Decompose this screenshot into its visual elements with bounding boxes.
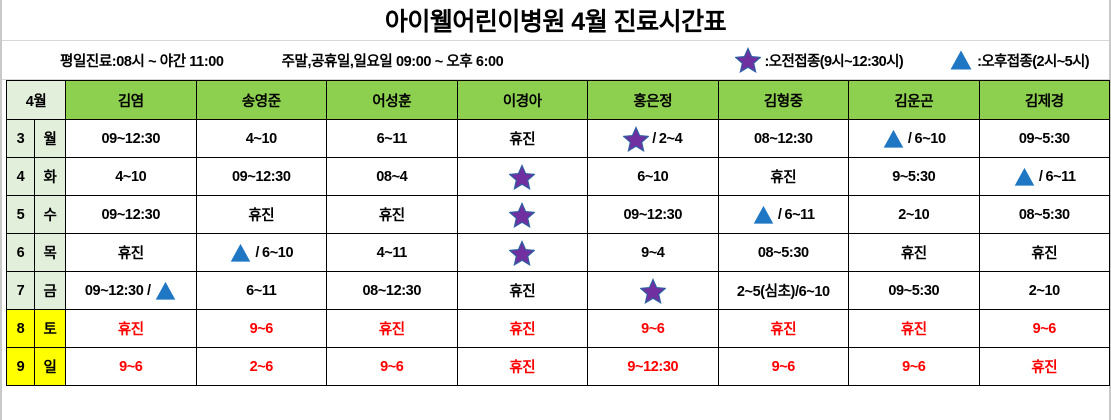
schedule-cell: /6~10 — [849, 120, 980, 158]
row-day-number: 3 — [7, 120, 35, 158]
schedule-cell-text: 9~6 — [380, 359, 403, 375]
schedule-cell-content: 08~5:30 — [980, 196, 1110, 233]
schedule-cell: /6~11 — [718, 196, 849, 234]
schedule-cell-text: 휴진 — [1031, 356, 1057, 377]
schedule-cell-content: 4~10 — [197, 120, 327, 157]
schedule-cell-text: 6~11 — [784, 207, 814, 223]
header-doctor-3: 이경아 — [457, 81, 588, 120]
schedule-cell-content: /6~11 — [719, 196, 849, 233]
schedule-cell: /6~11 — [979, 158, 1110, 196]
schedule-cell-content: 2~10 — [849, 196, 979, 233]
schedule-cell-text: 9~6 — [1033, 321, 1056, 337]
schedule-cell — [457, 196, 588, 234]
triangle-icon — [154, 279, 177, 302]
schedule-cell-content: 휴진 — [327, 310, 457, 347]
schedule-cell-text: 9~4 — [641, 245, 664, 261]
schedule-cell-content: 2~10 — [980, 272, 1110, 309]
schedule-cell-text: 9~6 — [772, 359, 795, 375]
schedule-cell: 09~12:30 — [588, 196, 719, 234]
schedule-cell-text: 08~5:30 — [758, 245, 809, 261]
schedule-table-wrap: 4월 김염 송영준 어성훈 이경아 홍은정 김형중 김운곤 김제경 3월09~1… — [2, 80, 1109, 386]
schedule-cell: /2~4 — [588, 120, 719, 158]
page-title: 아이웰어린이병원 4월 진료시간표 — [385, 2, 726, 38]
schedule-cell: 9~4 — [588, 234, 719, 272]
schedule-cell-content: /2~4 — [588, 120, 718, 157]
schedule-cell: 09~12:30 — [196, 158, 327, 196]
schedule-cell-text: 09~12:30 — [102, 131, 160, 147]
schedule-cell — [457, 234, 588, 272]
schedule-cell-content: 4~11 — [327, 234, 457, 271]
schedule-cell-content: 4~10 — [66, 158, 196, 195]
star-icon — [509, 240, 535, 266]
schedule-cell-text: 2~5(심초)/6~10 — [737, 280, 830, 301]
schedule-cell-content: 9~6 — [849, 348, 979, 385]
row-day-of-week: 수 — [35, 196, 66, 234]
schedule-cell-text: 휴진 — [770, 318, 796, 339]
schedule-cell-text: 6~10 — [915, 131, 946, 147]
schedule-cell-text: 6~10 — [637, 169, 668, 185]
schedule-cell: 9~6 — [66, 348, 197, 386]
schedule-cell-text: 08~5:30 — [1019, 207, 1070, 223]
header-doctor-2: 어성훈 — [327, 81, 458, 120]
schedule-cell-content: 08~5:30 — [719, 234, 849, 271]
schedule-cell: 09~12:30 / — [66, 272, 197, 310]
schedule-cell-content: 9~6 — [719, 348, 849, 385]
cell-separator: / — [255, 245, 259, 261]
table-row: 7금09~12:30 /6~1108~12:30휴진2~5(심초)/6~1009… — [7, 272, 1110, 310]
schedule-cell: 4~10 — [196, 120, 327, 158]
schedule-cell-text: 4~10 — [115, 169, 146, 185]
schedule-cell-content: 08~12:30 — [327, 272, 457, 309]
schedule-cell: 2~10 — [979, 272, 1110, 310]
row-day-of-week: 토 — [35, 310, 66, 348]
triangle-icon — [882, 127, 905, 150]
schedule-cell: 9~6 — [849, 348, 980, 386]
schedule-cell-content: 휴진 — [458, 272, 588, 309]
triangle-icon — [1013, 165, 1036, 188]
schedule-cell-content: 휴진 — [849, 234, 979, 271]
schedule-cell: 2~6 — [196, 348, 327, 386]
schedule-cell-text: 2~10 — [1029, 283, 1060, 299]
schedule-cell: 휴진 — [718, 158, 849, 196]
schedule-cell-content: 휴진 — [197, 196, 327, 233]
schedule-cell: 9~12:30 — [588, 348, 719, 386]
schedule-cell: 08~4 — [327, 158, 458, 196]
legend-label-afternoon: :오후접종(2시~5시) — [977, 50, 1089, 71]
schedule-cell-content: 9~4 — [588, 234, 718, 271]
schedule-cell-content: 08~4 — [327, 158, 457, 195]
schedule-cell: 휴진 — [66, 234, 197, 272]
schedule-cell-content: 09~5:30 — [849, 272, 979, 309]
schedule-cell-content: 09~12:30 — [66, 120, 196, 157]
schedule-cell: 휴진 — [849, 234, 980, 272]
header-doctor-4: 홍은정 — [588, 81, 719, 120]
schedule-cell-text: 휴진 — [770, 166, 796, 187]
schedule-cell: 9~6 — [588, 310, 719, 348]
schedule-cell: 9~6 — [327, 348, 458, 386]
cell-separator: / — [1039, 169, 1043, 185]
schedule-cell-content: /6~10 — [849, 120, 979, 157]
schedule-cell-text: 휴진 — [118, 242, 144, 263]
legend-label-morning: :오전접종(9시~12:30시) — [765, 50, 904, 71]
schedule-cell: 6~10 — [588, 158, 719, 196]
schedule-cell: 6~11 — [327, 120, 458, 158]
row-day-of-week: 금 — [35, 272, 66, 310]
schedule-cell: 4~11 — [327, 234, 458, 272]
schedule-cell-text: 09~12:30 — [232, 169, 290, 185]
schedule-cell: 6~11 — [196, 272, 327, 310]
row-day-number: 4 — [7, 158, 35, 196]
schedule-cell-text: 휴진 — [509, 280, 535, 301]
schedule-cell-content: 휴진 — [458, 310, 588, 347]
header-doctor-1: 송영준 — [196, 81, 327, 120]
schedule-cell-content: 휴진 — [719, 310, 849, 347]
row-day-of-week: 화 — [35, 158, 66, 196]
row-day-number: 9 — [7, 348, 35, 386]
schedule-cell-content: 휴진 — [66, 310, 196, 347]
table-row: 5수09~12:30휴진휴진09~12:30/6~112~1008~5:30 — [7, 196, 1110, 234]
cell-separator: / — [652, 131, 656, 147]
schedule-cell-content — [458, 196, 588, 233]
schedule-cell-text: 휴진 — [379, 204, 405, 225]
schedule-cell-content — [588, 272, 718, 309]
schedule-cell-text: 9~6 — [250, 321, 273, 337]
header-doctor-0: 김염 — [66, 81, 197, 120]
schedule-cell-text: 4~11 — [377, 245, 407, 261]
schedule-cell-text: 09~12:30 — [102, 207, 160, 223]
schedule-cell-content: 휴진 — [458, 348, 588, 385]
schedule-cell: 휴진 — [66, 310, 197, 348]
weekday-hours-text: 평일진료:08시 ~ 야간 11:00 — [60, 50, 224, 71]
schedule-cell — [588, 272, 719, 310]
schedule-cell-content: 6~10 — [588, 158, 718, 195]
schedule-cell-content: 9~6 — [588, 310, 718, 347]
schedule-cell-text: 6~11 — [377, 131, 407, 147]
triangle-icon — [949, 48, 973, 72]
schedule-cell-content: 6~11 — [197, 272, 327, 309]
schedule-cell-text: 휴진 — [509, 356, 535, 377]
schedule-cell: 08~12:30 — [327, 272, 458, 310]
schedule-cell-content — [458, 234, 588, 271]
schedule-cell: 9~6 — [718, 348, 849, 386]
schedule-cell-text: 휴진 — [901, 318, 927, 339]
cell-separator: / — [908, 131, 912, 147]
schedule-cell-content: 9~6 — [980, 310, 1110, 347]
schedule-cell-content: 휴진 — [849, 310, 979, 347]
row-day-number: 8 — [7, 310, 35, 348]
star-icon — [509, 164, 535, 190]
schedule-cell-content: 09~5:30 — [980, 120, 1110, 157]
schedule-cell: 휴진 — [457, 348, 588, 386]
schedule-cell-content: 9~6 — [327, 348, 457, 385]
table-row: 6목휴진/6~104~119~408~5:30휴진휴진 — [7, 234, 1110, 272]
schedule-cell-text: 09~5:30 — [888, 283, 939, 299]
schedule-cell-content: 2~6 — [197, 348, 327, 385]
schedule-cell — [457, 158, 588, 196]
schedule-cell: 휴진 — [457, 272, 588, 310]
schedule-cell-content: /6~11 — [980, 158, 1110, 195]
schedule-cell-text: 2~10 — [898, 207, 929, 223]
schedule-cell-text: 08~4 — [376, 169, 407, 185]
schedule-cell: 9~5:30 — [849, 158, 980, 196]
table-row: 9일9~62~69~6휴진9~12:309~69~6휴진 — [7, 348, 1110, 386]
title-band: 아이웰어린이병원 4월 진료시간표 — [2, 0, 1109, 41]
table-row: 8토휴진9~6휴진휴진9~6휴진휴진9~6 — [7, 310, 1110, 348]
schedule-cell-content: 휴진 — [458, 120, 588, 157]
schedule-cell-content: 휴진 — [327, 196, 457, 233]
schedule-cell-text: 09~12:30 — [624, 207, 682, 223]
schedule-cell-content: 2~5(심초)/6~10 — [719, 272, 849, 309]
schedule-cell-content: 09~12:30 / — [66, 272, 196, 309]
legend-item-morning-vaccination: :오전접종(9시~12:30시) — [735, 47, 904, 73]
header-doctor-5: 김형중 — [718, 81, 849, 120]
table-row: 3월09~12:304~106~11휴진/2~408~12:30/6~1009~… — [7, 120, 1110, 158]
schedule-cell-text: 휴진 — [118, 318, 144, 339]
legend: :오전접종(9시~12:30시) :오후접종(2시~5시) — [735, 47, 1109, 73]
schedule-cell-content: 9~6 — [197, 310, 327, 347]
schedule-cell: 09~12:30 — [66, 196, 197, 234]
table-body: 3월09~12:304~106~11휴진/2~408~12:30/6~1009~… — [7, 120, 1110, 386]
schedule-cell-content: 휴진 — [66, 234, 196, 271]
schedule-cell-text: 9~5:30 — [892, 169, 935, 185]
schedule-cell: 휴진 — [718, 310, 849, 348]
triangle-icon — [229, 241, 252, 264]
schedule-cell-content: 08~12:30 — [719, 120, 849, 157]
schedule-cell: 2~5(심초)/6~10 — [718, 272, 849, 310]
row-day-number: 7 — [7, 272, 35, 310]
schedule-cell: /6~10 — [196, 234, 327, 272]
weekend-hours-text: 주말,공휴일,일요일 09:00 ~ 오후 6:00 — [282, 50, 504, 71]
schedule-cell-text: 09~5:30 — [1019, 131, 1070, 147]
schedule-cell: 09~12:30 — [66, 120, 197, 158]
schedule-cell-text: 9~12:30 — [627, 359, 678, 375]
legend-item-afternoon-vaccination: :오후접종(2시~5시) — [949, 48, 1089, 72]
schedule-cell: 08~5:30 — [718, 234, 849, 272]
row-day-number: 5 — [7, 196, 35, 234]
schedule-cell-text: 휴진 — [509, 128, 535, 149]
row-day-number: 6 — [7, 234, 35, 272]
star-icon — [509, 202, 535, 228]
schedule-cell-text: 09~12:30 / — [85, 283, 151, 299]
schedule-cell-content: 09~12:30 — [197, 158, 327, 195]
schedule-cell: 4~10 — [66, 158, 197, 196]
schedule-cell-text: 6~10 — [262, 245, 293, 261]
schedule-cell: 휴진 — [327, 310, 458, 348]
schedule-cell-text: 2~6 — [250, 359, 273, 375]
schedule-cell-text: 9~6 — [641, 321, 664, 337]
schedule-cell: 08~12:30 — [718, 120, 849, 158]
schedule-cell-text: 08~12:30 — [754, 131, 812, 147]
schedule-cell-text: 6~11 — [246, 283, 276, 299]
star-icon — [623, 126, 649, 152]
header-doctor-7: 김제경 — [979, 81, 1110, 120]
schedule-cell-content: 9~12:30 — [588, 348, 718, 385]
schedule-cell-text: 휴진 — [509, 318, 535, 339]
schedule-cell-text: 08~12:30 — [363, 283, 421, 299]
triangle-icon — [752, 203, 775, 226]
schedule-cell-content — [458, 158, 588, 195]
table-row: 4화4~1009~12:3008~46~10휴진9~5:30/6~11 — [7, 158, 1110, 196]
schedule-cell: 9~6 — [979, 310, 1110, 348]
row-day-of-week: 일 — [35, 348, 66, 386]
schedule-cell-text: 휴진 — [248, 204, 274, 225]
schedule-cell: 휴진 — [849, 310, 980, 348]
schedule-cell: 9~6 — [196, 310, 327, 348]
schedule-cell-content: 09~12:30 — [66, 196, 196, 233]
schedule-cell-content: 휴진 — [980, 348, 1110, 385]
schedule-cell-text: 2~4 — [659, 131, 682, 147]
star-icon — [735, 47, 761, 73]
schedule-cell-content: 9~6 — [66, 348, 196, 385]
schedule-cell: 휴진 — [327, 196, 458, 234]
schedule-cell: 08~5:30 — [979, 196, 1110, 234]
info-band: 평일진료:08시 ~ 야간 11:00 주말,공휴일,일요일 09:00 ~ 오… — [2, 41, 1109, 80]
schedule-cell: 휴진 — [979, 234, 1110, 272]
row-day-of-week: 목 — [35, 234, 66, 272]
schedule-cell: 휴진 — [457, 310, 588, 348]
header-month-label: 4월 — [7, 81, 66, 120]
schedule-cell-content: 9~5:30 — [849, 158, 979, 195]
schedule-cell-content: 09~12:30 — [588, 196, 718, 233]
schedule-table: 4월 김염 송영준 어성훈 이경아 홍은정 김형중 김운곤 김제경 3월09~1… — [6, 80, 1110, 386]
header-doctor-6: 김운곤 — [849, 81, 980, 120]
schedule-page: 아이웰어린이병원 4월 진료시간표 평일진료:08시 ~ 야간 11:00 주말… — [0, 0, 1111, 420]
schedule-cell-text: 9~6 — [902, 359, 925, 375]
schedule-cell: 휴진 — [196, 196, 327, 234]
schedule-cell: 휴진 — [457, 120, 588, 158]
header-row: 4월 김염 송영준 어성훈 이경아 홍은정 김형중 김운곤 김제경 — [7, 81, 1110, 120]
schedule-cell-content: 휴진 — [719, 158, 849, 195]
schedule-cell: 휴진 — [979, 348, 1110, 386]
row-day-of-week: 월 — [35, 120, 66, 158]
cell-separator: / — [778, 207, 782, 223]
schedule-cell: 2~10 — [849, 196, 980, 234]
schedule-cell: 09~5:30 — [979, 120, 1110, 158]
schedule-cell-text: 휴진 — [1031, 242, 1057, 263]
schedule-cell-text: 9~6 — [119, 359, 142, 375]
schedule-cell-text: 휴진 — [901, 242, 927, 263]
schedule-cell-content: 휴진 — [980, 234, 1110, 271]
schedule-cell-content: /6~10 — [197, 234, 327, 271]
schedule-cell-text: 휴진 — [379, 318, 405, 339]
star-icon — [640, 278, 666, 304]
schedule-cell-text: 6~11 — [1045, 169, 1075, 185]
schedule-cell-text: 4~10 — [246, 131, 277, 147]
schedule-cell: 09~5:30 — [849, 272, 980, 310]
schedule-cell-content: 6~11 — [327, 120, 457, 157]
table-header: 4월 김염 송영준 어성훈 이경아 홍은정 김형중 김운곤 김제경 — [7, 81, 1110, 120]
